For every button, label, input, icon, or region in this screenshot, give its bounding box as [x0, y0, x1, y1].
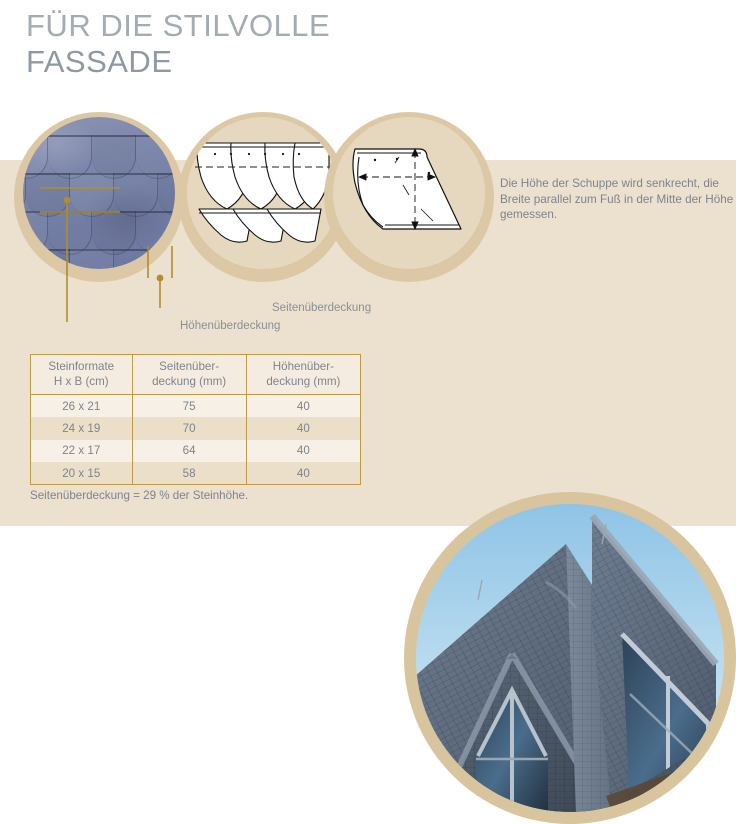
page-title: FÜR DIE STILVOLLE FASSADE — [26, 8, 446, 80]
column-header-height-line2: deckung (mm) — [247, 375, 360, 390]
cell-height: 40 — [246, 440, 360, 463]
cell-height: 40 — [246, 417, 360, 440]
column-header-height-overlap: Höhenüber- deckung (mm) — [246, 355, 360, 395]
table-row: 26 x 21 75 40 — [31, 395, 361, 418]
cell-height: 40 — [246, 462, 360, 485]
cell-side: 75 — [132, 395, 246, 418]
column-header-side-line2: deckung (mm) — [133, 375, 246, 390]
table-row: 24 x 19 70 40 — [31, 417, 361, 440]
table-header-row: Steinformate H x B (cm) Seitenüber- deck… — [31, 355, 361, 395]
page-title-line-1: FÜR DIE STILVOLLE — [26, 8, 446, 44]
leader-dot-height — [64, 197, 71, 204]
table-row: 20 x 15 58 40 — [31, 462, 361, 485]
table-row: 22 x 17 64 40 — [31, 440, 361, 463]
column-header-side-overlap: Seitenüber- deckung (mm) — [132, 355, 246, 395]
cell-format: 24 x 19 — [31, 417, 133, 440]
measurement-info-text: Die Höhe der Schuppe wird senkrecht, die… — [500, 176, 736, 223]
page-root: FÜR DIE STILVOLLE FASSADE — [0, 0, 736, 824]
leader-dot-side — [157, 275, 164, 282]
callout-label-side-overlap: Seitenüberdeckung — [272, 301, 371, 315]
cell-format: 26 x 21 — [31, 395, 133, 418]
table-header: Steinformate H x B (cm) Seitenüber- deck… — [31, 355, 361, 395]
roof-photo-svg — [416, 504, 724, 812]
column-header-height-line1: Höhenüber- — [247, 360, 360, 375]
roof-photo-content — [416, 504, 724, 812]
cell-side: 64 — [132, 440, 246, 463]
table-body: 26 x 21 75 40 24 x 19 70 40 22 x 17 64 4… — [31, 395, 361, 485]
cell-height: 40 — [246, 395, 360, 418]
column-header-format-line2: H x B (cm) — [31, 375, 132, 390]
callout-label-height-overlap: Höhenüberdeckung — [180, 319, 280, 333]
roof-photo — [416, 504, 724, 812]
page-title-line-2: FASSADE — [26, 44, 446, 80]
column-header-format-line1: Steinformate — [31, 360, 132, 375]
cell-format: 22 x 17 — [31, 440, 133, 463]
table-footnote: Seitenüberdeckung = 29 % der Steinhöhe. — [30, 489, 248, 502]
cell-side: 70 — [132, 417, 246, 440]
stone-format-table: Steinformate H x B (cm) Seitenüber- deck… — [30, 354, 361, 485]
cell-side: 58 — [132, 462, 246, 485]
cell-format: 20 x 15 — [31, 462, 133, 485]
column-header-side-line1: Seitenüber- — [133, 360, 246, 375]
column-header-format: Steinformate H x B (cm) — [31, 355, 133, 395]
